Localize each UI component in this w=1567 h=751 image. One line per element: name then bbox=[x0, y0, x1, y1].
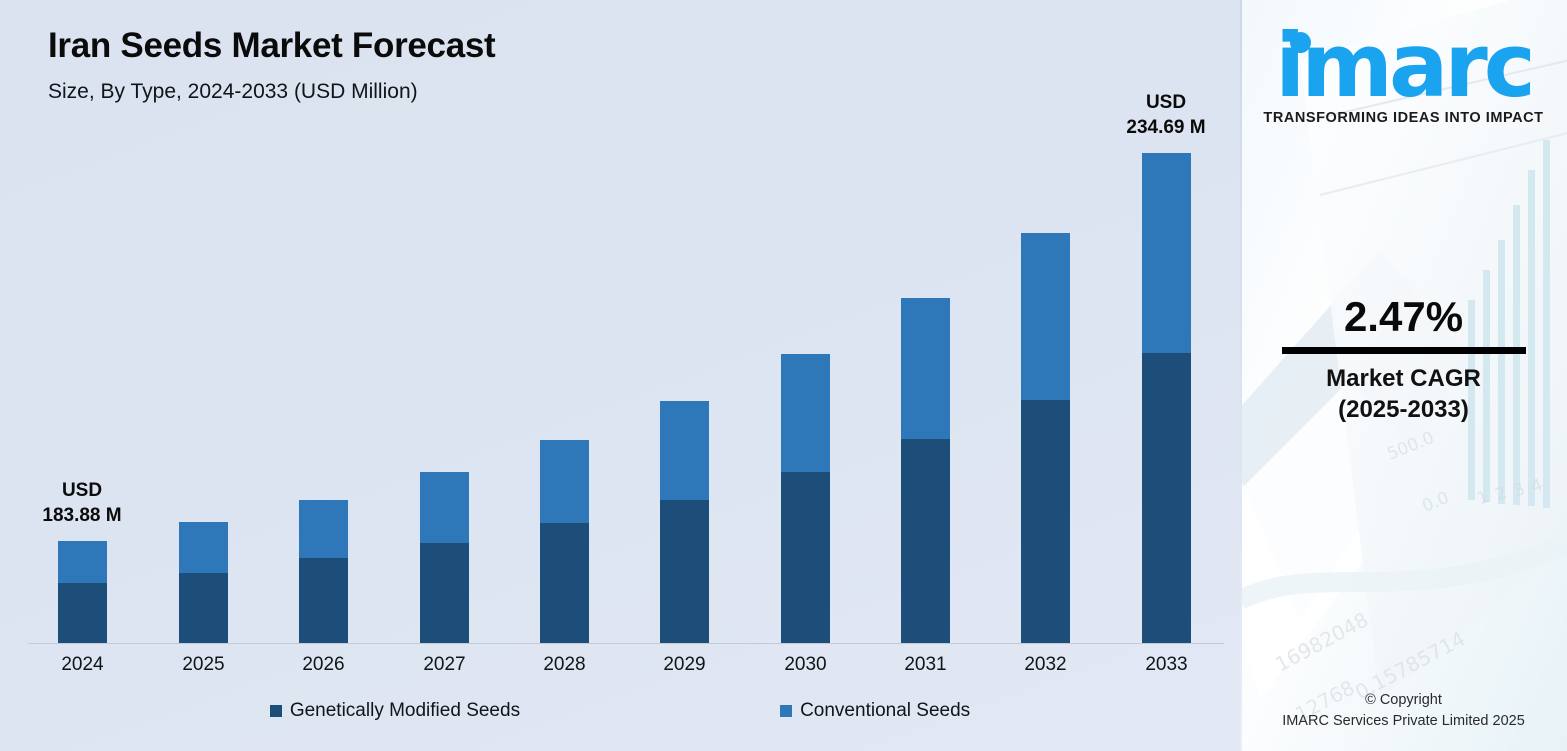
x-axis-label-2024: 2024 bbox=[28, 654, 138, 676]
chart-panel: Iran Seeds Market Forecast Size, By Type… bbox=[0, 0, 1240, 751]
x-axis-label-2026: 2026 bbox=[269, 654, 379, 676]
legend-item-0[interactable]: Genetically Modified Seeds bbox=[270, 700, 520, 722]
bar-segment-gm-2033[interactable] bbox=[1142, 353, 1191, 643]
logo-dot-icon bbox=[1290, 32, 1311, 53]
cagr-period: (2025-2033) bbox=[1240, 395, 1567, 426]
x-axis-label-2029: 2029 bbox=[630, 654, 740, 676]
x-axis-label-2033: 2033 bbox=[1112, 654, 1222, 676]
bar-segment-conventional-2033[interactable] bbox=[1142, 153, 1191, 353]
bar-2024[interactable] bbox=[58, 541, 107, 643]
legend-label-0: Genetically Modified Seeds bbox=[290, 700, 520, 722]
plot-area: 2024202520262027202820292030203120322033 bbox=[0, 0, 1240, 751]
bar-segment-gm-2029[interactable] bbox=[660, 500, 709, 643]
legend-item-1[interactable]: Conventional Seeds bbox=[780, 700, 970, 722]
x-axis-line bbox=[28, 643, 1224, 644]
cagr-block: 2.47% Market CAGR (2025-2033) bbox=[1240, 296, 1567, 425]
bar-segment-gm-2025[interactable] bbox=[179, 573, 228, 643]
bar-segment-conventional-2030[interactable] bbox=[781, 354, 830, 472]
bar-2025[interactable] bbox=[179, 522, 228, 643]
bar-2029[interactable] bbox=[660, 401, 709, 643]
bar-2031[interactable] bbox=[901, 298, 950, 643]
bar-segment-conventional-2025[interactable] bbox=[179, 522, 228, 573]
x-axis-label-2031: 2031 bbox=[871, 654, 981, 676]
logo-wordmark: imarc bbox=[1259, 18, 1549, 114]
x-axis-label-2025: 2025 bbox=[149, 654, 259, 676]
x-axis-label-2030: 2030 bbox=[751, 654, 861, 676]
bar-2030[interactable] bbox=[781, 354, 830, 643]
x-axis-label-2032: 2032 bbox=[991, 654, 1101, 676]
chart-legend: Genetically Modified SeedsConventional S… bbox=[0, 700, 1240, 722]
bar-segment-conventional-2029[interactable] bbox=[660, 401, 709, 500]
bar-segment-gm-2027[interactable] bbox=[420, 543, 469, 643]
bar-segment-gm-2030[interactable] bbox=[781, 472, 830, 643]
x-axis-label-2028: 2028 bbox=[510, 654, 620, 676]
legend-label-1: Conventional Seeds bbox=[800, 700, 970, 722]
bar-segment-conventional-2026[interactable] bbox=[299, 500, 348, 558]
bar-segment-conventional-2031[interactable] bbox=[901, 298, 950, 439]
square-swatch-icon bbox=[270, 705, 282, 717]
bar-segment-gm-2026[interactable] bbox=[299, 558, 348, 643]
x-axis-label-2027: 2027 bbox=[390, 654, 500, 676]
bar-2027[interactable] bbox=[420, 472, 469, 643]
imarc-logo: imarc TRANSFORMING IDEAS INTO IMPACT bbox=[1240, 18, 1567, 126]
square-swatch-icon bbox=[780, 705, 792, 717]
cagr-label: Market CAGR bbox=[1240, 364, 1567, 395]
bar-segment-gm-2028[interactable] bbox=[540, 523, 589, 643]
bar-segment-gm-2024[interactable] bbox=[58, 583, 107, 643]
logo-text: imarc bbox=[1275, 14, 1532, 117]
infographic-page: Iran Seeds Market Forecast Size, By Type… bbox=[0, 0, 1567, 751]
cagr-rule-divider bbox=[1282, 347, 1526, 354]
copyright-line-1: © Copyright bbox=[1240, 690, 1567, 712]
cagr-value: 2.47% bbox=[1240, 296, 1567, 339]
bar-segment-conventional-2032[interactable] bbox=[1021, 233, 1070, 400]
copyright-notice: © Copyright IMARC Services Private Limit… bbox=[1240, 690, 1567, 734]
copyright-line-2: IMARC Services Private Limited 2025 bbox=[1240, 711, 1567, 733]
bar-2032[interactable] bbox=[1021, 233, 1070, 643]
bar-2028[interactable] bbox=[540, 440, 589, 643]
bar-2033[interactable] bbox=[1142, 153, 1191, 643]
bar-segment-gm-2032[interactable] bbox=[1021, 400, 1070, 643]
bar-2026[interactable] bbox=[299, 500, 348, 643]
bar-segment-conventional-2028[interactable] bbox=[540, 440, 589, 523]
brand-panel: 500.0 0.0 1 2 3 4 16982048 12768 0.15785… bbox=[1240, 0, 1567, 751]
bar-segment-gm-2031[interactable] bbox=[901, 439, 950, 643]
bar-segment-conventional-2024[interactable] bbox=[58, 541, 107, 583]
bar-segment-conventional-2027[interactable] bbox=[420, 472, 469, 543]
